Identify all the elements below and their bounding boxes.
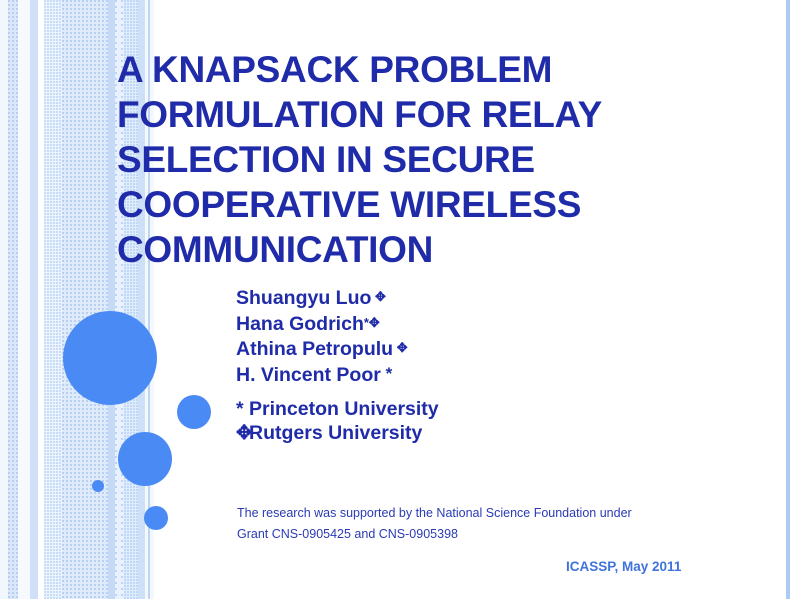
author-4-name: H. Vincent Poor	[236, 364, 381, 386]
conference-footer: ICASSP, May 2011	[566, 559, 681, 574]
circle-small-bottom	[144, 506, 168, 530]
funding-line-1: The research was supported by the Nation…	[237, 503, 707, 524]
affiliation-2-symbol: ✥	[236, 422, 249, 446]
author-2-affiliation-marks: *✥	[364, 315, 380, 330]
title-line-2: FORMULATION FOR RELAY	[117, 92, 677, 137]
circle-small-right	[177, 395, 211, 429]
band-solid-c	[30, 0, 38, 599]
author-3-affiliation-marks: ✥	[393, 340, 408, 355]
author-1-name: Shuangyu Luo	[236, 287, 371, 309]
title-line-5: COMMUNICATION	[117, 227, 677, 272]
author-1-affiliation-marks: ✥	[371, 289, 386, 304]
funding-acknowledgement: The research was supported by the Nation…	[237, 503, 707, 545]
author-3: Athina Petropulu ✥	[236, 336, 408, 362]
circle-tiny	[92, 480, 104, 492]
author-2: Hana Godrich*✥	[236, 311, 408, 337]
band-edge-pale	[0, 0, 8, 599]
presentation-slide: A KNAPSACK PROBLEM FORMULATION FOR RELAY…	[0, 0, 800, 599]
title-line-3: SELECTION IN SECURE	[117, 137, 677, 182]
affiliation-1-institution: Princeton University	[249, 398, 439, 420]
accent-rule-right	[786, 0, 790, 599]
band-fine-dots-e	[44, 0, 62, 599]
band-dotted-f	[62, 0, 108, 599]
affiliation-list: *Princeton University ✥Rutgers Universit…	[236, 398, 439, 445]
author-list: Shuangyu Luo ✥ Hana Godrich*✥ Athina Pet…	[236, 285, 408, 387]
author-4: H. Vincent Poor *	[236, 362, 408, 388]
band-pale-b	[18, 0, 30, 599]
circle-medium	[118, 432, 172, 486]
funding-line-2: Grant CNS-0905425 and CNS-0905398	[237, 524, 707, 545]
affiliation-1-symbol: *	[236, 398, 249, 422]
author-1: Shuangyu Luo ✥	[236, 285, 408, 311]
title-line-1: A KNAPSACK PROBLEM	[117, 47, 677, 92]
author-4-affiliation-marks: *	[381, 364, 392, 383]
affiliation-2-institution: Rutgers University	[249, 422, 422, 444]
band-dotted-a	[8, 0, 18, 599]
author-3-name: Athina Petropulu	[236, 338, 393, 360]
author-2-name: Hana Godrich	[236, 313, 364, 335]
slide-title: A KNAPSACK PROBLEM FORMULATION FOR RELAY…	[117, 47, 677, 272]
title-line-4: COOPERATIVE WIRELESS	[117, 182, 677, 227]
band-solid-g	[108, 0, 115, 599]
affiliation-1: *Princeton University	[236, 398, 439, 422]
affiliation-2: ✥Rutgers University	[236, 422, 439, 446]
circle-large	[63, 311, 157, 405]
